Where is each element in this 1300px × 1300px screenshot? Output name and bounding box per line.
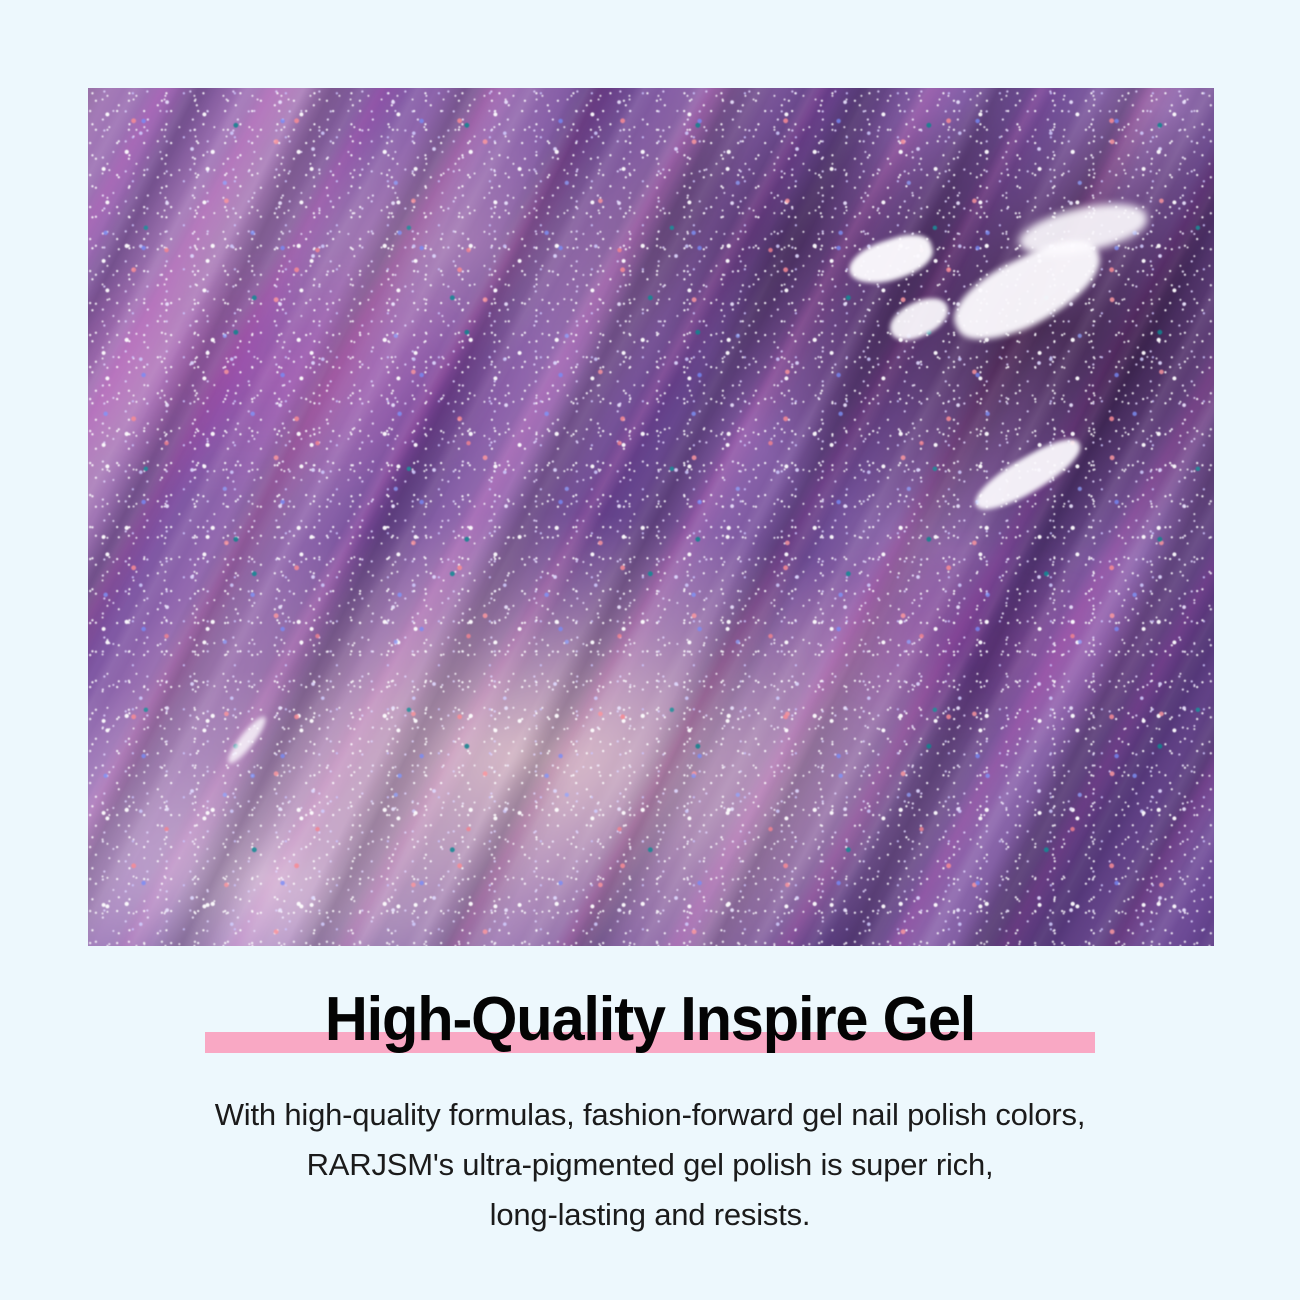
description-line-1: With high-quality formulas, fashion-forw…	[0, 1090, 1300, 1140]
product-feature-card: High-Quality Inspire Gel With high-quali…	[0, 0, 1300, 1300]
description-line-2: RARJSM's ultra-pigmented gel polish is s…	[0, 1140, 1300, 1190]
heading-block: High-Quality Inspire Gel	[0, 985, 1300, 1057]
page-title: High-Quality Inspire Gel	[26, 985, 1274, 1055]
description-line-3: long-lasting and resists.	[0, 1190, 1300, 1240]
description-text: With high-quality formulas, fashion-forw…	[0, 1090, 1300, 1240]
product-swatch-image	[88, 88, 1214, 946]
blue-glitter-flakes	[88, 88, 1214, 946]
